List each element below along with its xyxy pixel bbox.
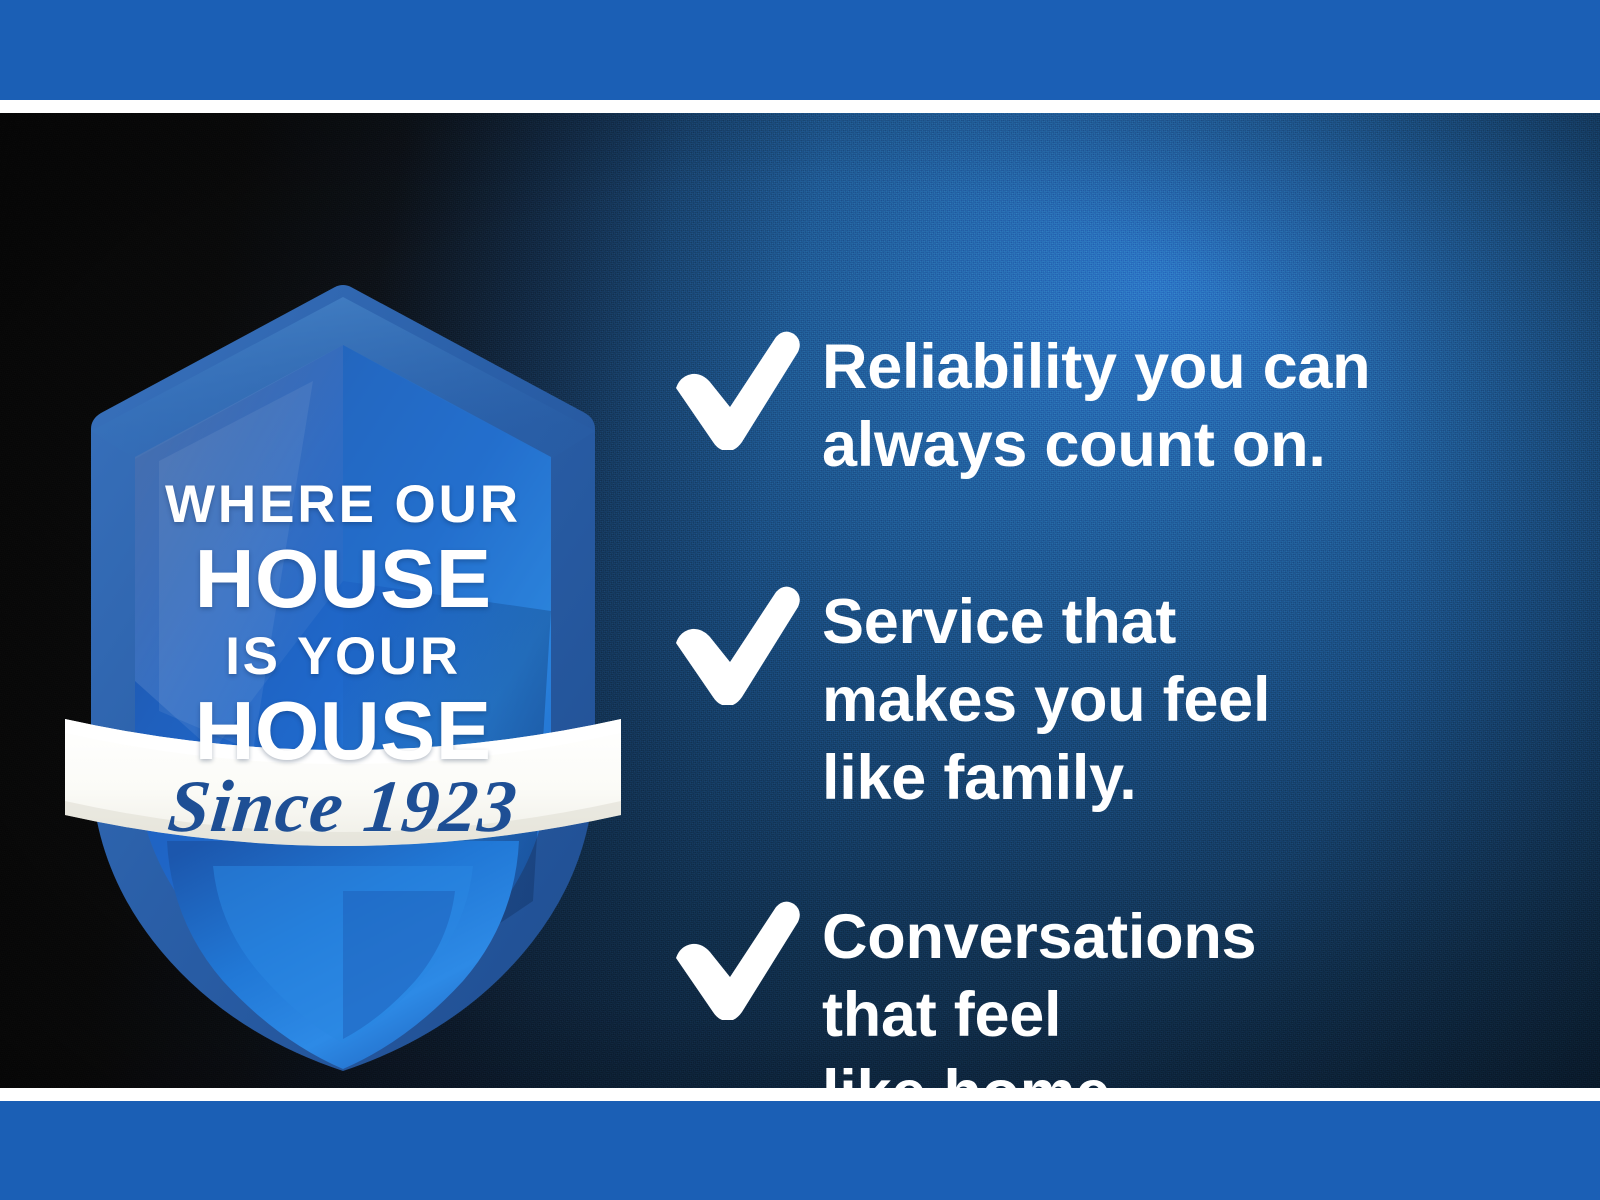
- shield-since-text: Since 1923: [59, 770, 627, 844]
- benefit-item-service: Service that makes you feel like family.: [672, 581, 1552, 817]
- benefit-item-reliability: Reliability you can always count on.: [672, 326, 1552, 484]
- benefit-text-service: Service that makes you feel like family.: [822, 581, 1270, 817]
- shield-badge: WHERE OUR HOUSE IS YOUR HOUSE Since 1923: [63, 281, 623, 1071]
- bottom-brand-bar: [0, 1101, 1600, 1200]
- benefit-item-conversations: Conversations that feel like home.: [672, 896, 1552, 1088]
- checkmark-icon: [672, 900, 804, 1020]
- promo-graphic-canvas: WHERE OUR HOUSE IS YOUR HOUSE Since 1923…: [0, 0, 1600, 1200]
- top-bar-divider: [0, 100, 1600, 113]
- benefits-list: Reliability you can always count on. Ser…: [672, 226, 1552, 1088]
- benefit-text-conversations: Conversations that feel like home.: [822, 896, 1256, 1088]
- main-content-panel: WHERE OUR HOUSE IS YOUR HOUSE Since 1923…: [0, 113, 1600, 1088]
- bottom-bar-divider: [0, 1088, 1600, 1101]
- top-brand-bar: [0, 0, 1600, 100]
- benefit-text-reliability: Reliability you can always count on.: [822, 326, 1370, 484]
- checkmark-icon: [672, 330, 804, 450]
- checkmark-icon: [672, 585, 804, 705]
